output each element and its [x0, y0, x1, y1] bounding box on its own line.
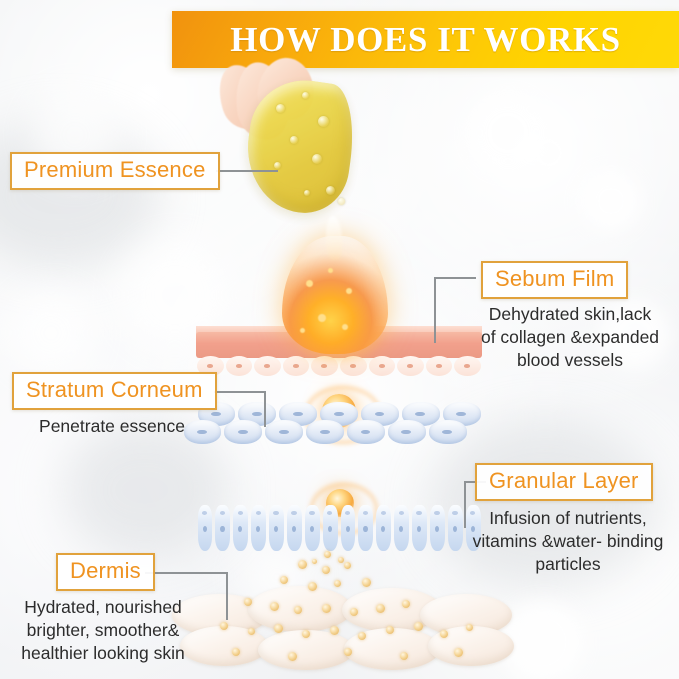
- nutrient-particle: [322, 604, 331, 613]
- corneum-cell: [429, 420, 467, 444]
- nutrient-particle: [402, 600, 410, 608]
- skin-cell: [254, 356, 281, 376]
- corneum-cell: [265, 420, 303, 444]
- nutrient-particle: [244, 598, 252, 606]
- gel-bubble: [276, 104, 285, 113]
- nutrient-particle: [232, 648, 240, 656]
- sparkle: [342, 324, 348, 330]
- label-sebum-film[interactable]: Sebum Film: [481, 261, 628, 299]
- granular-cell: [358, 505, 373, 551]
- gel-bubble: [318, 116, 329, 127]
- granular-layer-illustration: [196, 495, 482, 567]
- granular-cell: [448, 505, 463, 551]
- page-title: HOW DOES IT WORKS: [230, 20, 620, 60]
- nutrient-particle: [376, 604, 385, 613]
- granular-cell: [341, 505, 356, 551]
- gel-bubble: [326, 186, 335, 195]
- caption-granular-layer: Infusion of nutrients, vitamins &water- …: [462, 507, 674, 576]
- nutrient-particle: [288, 652, 297, 661]
- label-premium-essence[interactable]: Premium Essence: [10, 152, 220, 190]
- granular-cell: [430, 505, 445, 551]
- nutrient-particle: [308, 582, 317, 591]
- gel-patch-illustration: [214, 62, 404, 222]
- corneum-cell: [306, 420, 344, 444]
- nutrient-particle: [248, 628, 255, 635]
- nutrient-particle: [344, 562, 351, 569]
- granular-cell: [323, 505, 338, 551]
- granular-cell: [215, 505, 230, 551]
- sparkle: [318, 314, 326, 322]
- sparkle: [346, 288, 352, 294]
- gel-bubble: [290, 136, 298, 144]
- granular-cell: [251, 505, 266, 551]
- caption-dermis: Hydrated, nourished brighter, smoother& …: [6, 596, 200, 665]
- nutrient-particle: [350, 608, 358, 616]
- corneum-cell: [224, 420, 262, 444]
- corneum-cell: [388, 420, 426, 444]
- nutrient-particle: [362, 578, 371, 587]
- gel-bubble: [338, 198, 345, 205]
- granular-cell: [412, 505, 427, 551]
- nutrient-particle: [280, 576, 288, 584]
- granular-cell: [376, 505, 391, 551]
- label-dermis[interactable]: Dermis: [56, 553, 155, 591]
- granular-cell: [269, 505, 284, 551]
- droplet-illustration: [196, 228, 482, 384]
- nutrient-particle: [294, 606, 302, 614]
- nutrient-particle: [386, 626, 394, 634]
- corneum-cell-row-lower: [182, 420, 468, 444]
- nutrient-particle: [220, 622, 228, 630]
- caption-sebum-film: Dehydrated skin,lack of collagen &expand…: [462, 303, 678, 372]
- nutrient-particle: [322, 566, 330, 574]
- nutrient-particle: [466, 624, 473, 631]
- skin-cell: [226, 356, 253, 376]
- nutrient-particle: [298, 560, 307, 569]
- skin-cell: [426, 356, 453, 376]
- nutrient-particle: [358, 632, 366, 640]
- nutrient-particle: [330, 626, 339, 635]
- corneum-cell: [347, 420, 385, 444]
- nutrient-particle: [334, 580, 341, 587]
- granular-cell: [233, 505, 248, 551]
- gel-bubble: [304, 190, 310, 196]
- title-banner: HOW DOES IT WORKS: [172, 11, 679, 68]
- gel-bubble: [302, 92, 309, 99]
- nutrient-particle: [270, 602, 279, 611]
- sparkle: [328, 268, 333, 273]
- granular-cell: [394, 505, 409, 551]
- skin-cell: [397, 356, 424, 376]
- caption-stratum-corneum: Penetrate essence: [12, 415, 212, 438]
- nutrient-particle: [414, 622, 423, 631]
- nutrient-particle: [344, 648, 352, 656]
- infographic-canvas: HOW DOES IT WORKS: [0, 0, 679, 679]
- nutrient-particle: [400, 652, 408, 660]
- gel-bubble: [312, 154, 322, 164]
- dermis-illustration: [176, 560, 502, 679]
- sparkle: [306, 280, 313, 287]
- nutrient-particle: [454, 648, 463, 657]
- label-granular-layer[interactable]: Granular Layer: [475, 463, 653, 501]
- stratum-corneum-illustration: [196, 400, 482, 458]
- nutrient-particle: [274, 624, 283, 633]
- nutrient-particle: [302, 630, 310, 638]
- label-stratum-corneum[interactable]: Stratum Corneum: [12, 372, 217, 410]
- granular-cell: [287, 505, 302, 551]
- sparkle: [300, 328, 305, 333]
- nutrient-particle: [324, 551, 331, 558]
- granular-cell-row: [196, 505, 482, 551]
- granular-cell: [305, 505, 320, 551]
- gel-bubble: [274, 162, 281, 169]
- granular-cell: [198, 505, 213, 551]
- nutrient-particle: [440, 630, 448, 638]
